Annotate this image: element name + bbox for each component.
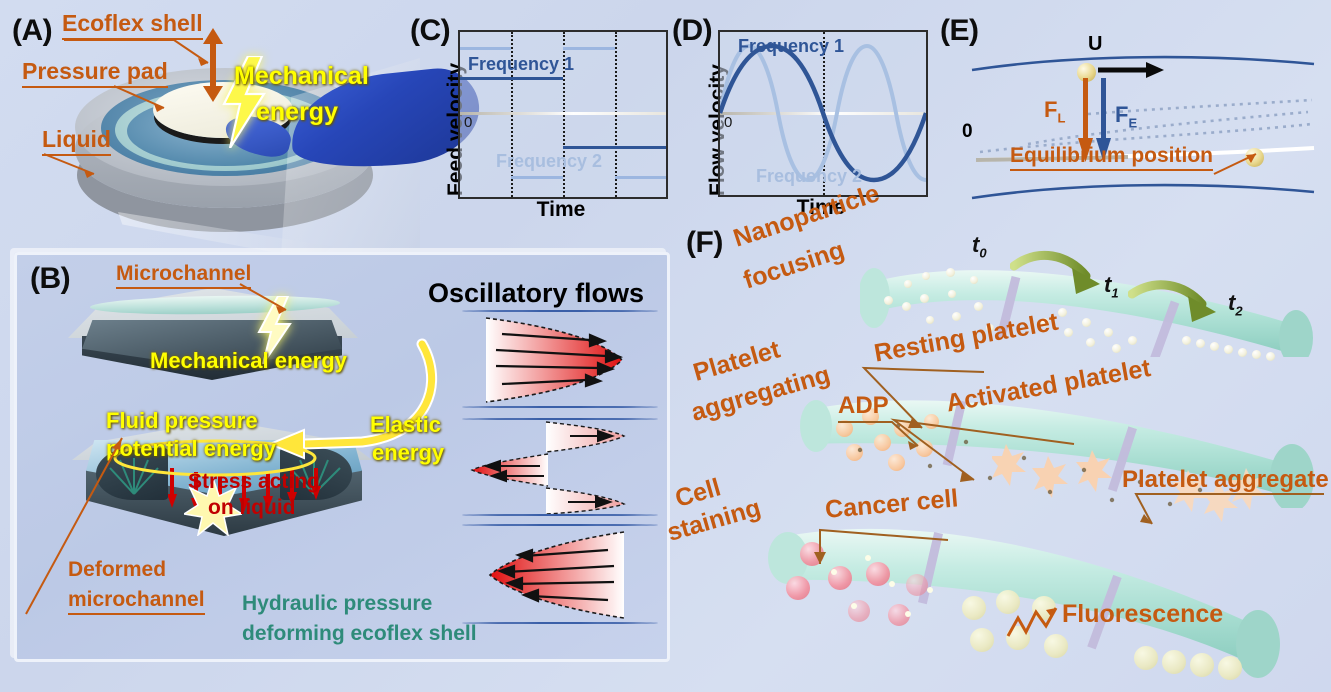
- nanoparticle: [974, 302, 983, 311]
- chart-c-freq2-seg4: [615, 176, 666, 179]
- nanoparticle: [922, 272, 930, 280]
- panel-label-b: (B): [30, 262, 70, 296]
- label-elastic: Elastic: [370, 412, 441, 438]
- timepoint-t2-subscript: 2: [1235, 303, 1242, 318]
- microchannel-leader-icon: [238, 282, 300, 316]
- flow-profile-3-svg: [462, 524, 682, 626]
- label-elastic-energy: energy: [372, 440, 444, 466]
- flow-profile-2-svg: [462, 418, 682, 518]
- nanoparticle: [1128, 336, 1137, 345]
- panel-label-f: (F): [686, 226, 723, 260]
- nanoparticle: [1082, 318, 1091, 327]
- nanoparticle: [1196, 339, 1205, 348]
- label-mechanical-line2: energy: [256, 98, 338, 127]
- flow-profile-3: [462, 524, 682, 626]
- oscillatory-flows-title: Oscillatory flows: [428, 278, 644, 309]
- time-transition-arrow-1-icon: [1010, 248, 1106, 308]
- nanoparticle: [1224, 345, 1233, 354]
- nanoparticle: [1182, 336, 1191, 345]
- label-velocity-u: U: [1088, 33, 1102, 56]
- activated-platelet-leader-icon: [888, 414, 1078, 494]
- flow-profile-1-svg: [462, 310, 682, 410]
- liquid-leader-icon: [42, 152, 112, 178]
- cancer-cell-leader-icon: [812, 524, 952, 574]
- nanoparticle: [884, 296, 893, 305]
- timepoint-t1-subscript: 1: [1111, 285, 1118, 300]
- chart-c-legend-freq2: Frequency 2: [496, 151, 602, 172]
- nanoparticle: [1086, 338, 1095, 347]
- nanoparticle: [926, 316, 934, 324]
- label-microchannel: Microchannel: [116, 262, 251, 289]
- stained-cell-focused: [1190, 653, 1214, 677]
- flow-profile-1: [462, 310, 682, 410]
- label-force-elastic: FE: [1115, 102, 1137, 130]
- figure-canvas: (A) Ecoflex shell Pressure pad Liquid Me…: [0, 0, 1331, 692]
- chart-c-freq1-seg1: [460, 77, 563, 80]
- label-fluorescence: Fluorescence: [1062, 600, 1223, 629]
- nanoparticle: [1104, 328, 1113, 337]
- chart-c-plot-area: 0 Frequency 1 Frequency 2: [458, 30, 668, 199]
- fluorescence-zigzag-icon: [1002, 598, 1072, 642]
- chart-c-freq2-seg3: [563, 47, 615, 50]
- nanoparticle: [1058, 308, 1067, 317]
- chart-c-freq2-seg2: [511, 176, 563, 179]
- nanoparticle: [904, 280, 912, 288]
- chart-c-freq1-seg2: [563, 146, 666, 149]
- label-on-liquid: on liquid: [208, 496, 295, 520]
- force-elastic-symbol: F: [1115, 102, 1128, 127]
- timepoint-t0-subscript: 0: [979, 245, 986, 260]
- force-lift-symbol: F: [1044, 97, 1057, 122]
- panel-label-d: (D): [672, 14, 712, 48]
- nanoparticle: [1210, 342, 1219, 351]
- label-mechanical-energy-b: Mechanical energy: [150, 348, 347, 374]
- nanoparticle: [1266, 352, 1275, 361]
- flow-profile-2: [462, 418, 682, 518]
- deformed-microchannel-leader-icon: [22, 428, 132, 618]
- stained-cell-focused: [1134, 646, 1158, 670]
- time-transition-arrow-2-icon: [1128, 278, 1224, 336]
- chart-d-zero-tick: 0: [724, 114, 732, 131]
- chart-c-freq2-seg1: [460, 47, 511, 50]
- nanoparticle: [1252, 350, 1261, 359]
- panel-label-e: (E): [940, 14, 979, 48]
- panel-label-a: (A): [12, 14, 52, 48]
- nanoparticle: [970, 276, 978, 284]
- label-platelet-aggregate: Platelet aggregate: [1122, 466, 1329, 494]
- label-mechanical-line1: Mechanical: [234, 62, 369, 91]
- label-deforming-ecoflex: deforming ecoflex shell: [242, 622, 477, 646]
- force-lift-subscript: L: [1057, 110, 1065, 125]
- label-stress-acting: Stress acting: [188, 470, 320, 494]
- chart-c-xlabel: Time: [458, 198, 664, 222]
- nanoparticle: [920, 294, 929, 303]
- label-force-lift: FL: [1044, 97, 1065, 125]
- nanoparticle: [1112, 344, 1121, 353]
- equilibrium-leader-icon: [1212, 150, 1272, 176]
- pressure-pad-leader-icon: [112, 84, 182, 112]
- nanoparticle: [948, 290, 956, 298]
- label-hydraulic-pressure: Hydraulic pressure: [242, 592, 432, 616]
- nanoparticle: [1064, 328, 1073, 337]
- chart-d-legend-freq1: Frequency 1: [738, 36, 844, 57]
- stained-cell-focused: [1218, 656, 1242, 680]
- nanoparticle: [902, 302, 911, 311]
- force-elastic-subscript: E: [1128, 115, 1137, 130]
- nanoparticle: [1238, 348, 1247, 357]
- chart-c-legend-freq1: Frequency 1: [468, 54, 574, 75]
- timepoint-t2: t2: [1228, 290, 1243, 318]
- panel-label-c: (C): [410, 14, 450, 48]
- chart-d-legend-freq2: Frequency 2: [756, 166, 862, 187]
- chart-c-zero-tick: 0: [464, 114, 472, 131]
- chart-c-zero-axis: [460, 112, 666, 115]
- panel-e-zero-label: 0: [962, 121, 973, 143]
- stained-cell-focused: [1162, 650, 1186, 674]
- chart-d-plot-area: 0 Frequency 1 Frequency 2: [718, 30, 928, 197]
- nanoparticle: [946, 268, 955, 277]
- nanoparticle: [952, 312, 961, 321]
- label-equilibrium-position: Equilibrium position: [1010, 144, 1213, 171]
- timepoint-t1: t1: [1104, 272, 1119, 300]
- timepoint-t0: t0: [972, 232, 987, 260]
- microchannel-tube-top: [90, 296, 340, 318]
